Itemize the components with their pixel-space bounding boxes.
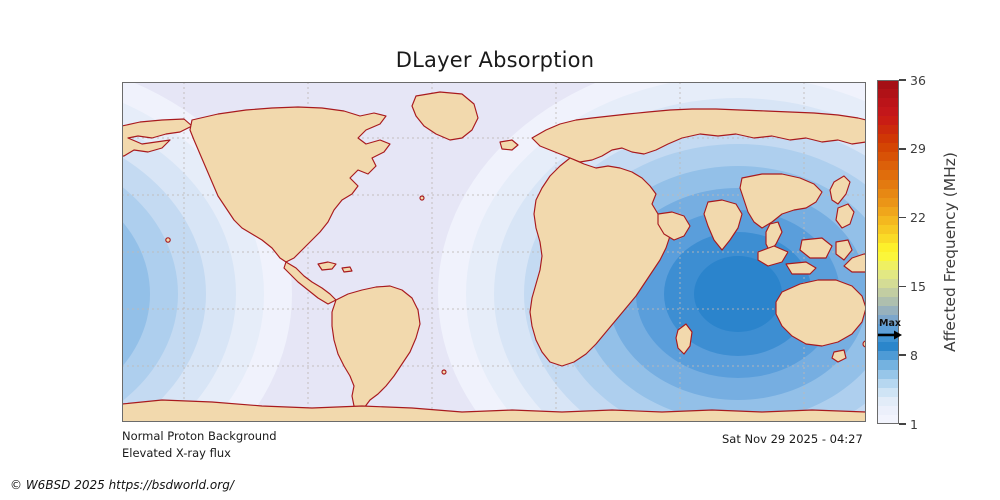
- colorbar-band: [877, 143, 899, 152]
- colorbar-band: [877, 216, 899, 225]
- colorbar-tick: 29: [899, 142, 926, 156]
- colorbar-band: [877, 116, 899, 125]
- colorbar-band: [877, 370, 899, 379]
- colorbar-tick-label: 8: [910, 348, 918, 363]
- colorbar-band: [877, 360, 899, 369]
- colorbar-band: [877, 152, 899, 161]
- colorbar-band: [877, 125, 899, 134]
- colorbar-band: [877, 170, 899, 179]
- colorbar-band: [877, 243, 899, 252]
- colorbar-band: [877, 252, 899, 261]
- colorbar-band: [877, 406, 899, 415]
- colorbar-band: [877, 107, 899, 116]
- page-title: DLayer Absorption: [0, 48, 990, 72]
- colorbar-band: [877, 261, 899, 270]
- colorbar-band: [877, 161, 899, 170]
- hispaniola: [342, 267, 352, 272]
- colorbar-tick-label: 22: [910, 210, 926, 225]
- colorbar-tick-label: 29: [910, 141, 926, 156]
- colorbar-tick-dash: [899, 286, 906, 288]
- colorbar-max-label: Max: [879, 319, 901, 329]
- colorbar-band: [877, 270, 899, 279]
- colorbar: [877, 80, 899, 424]
- island-hawaii: [166, 238, 170, 242]
- colorbar-tick: 8: [899, 348, 918, 362]
- colorbar-tick: 1: [899, 417, 918, 431]
- colorbar-tick-dash: [899, 354, 906, 356]
- colorbar-band: [877, 234, 899, 243]
- colorbar-tick-label: 36: [910, 73, 926, 88]
- colorbar-band: [877, 80, 899, 89]
- colorbar-band: [877, 351, 899, 360]
- colorbar-tick-dash: [899, 148, 906, 150]
- colorbar-tick-label: 15: [910, 279, 926, 294]
- colorbar-band: [877, 134, 899, 143]
- colorbar-band: [877, 397, 899, 406]
- colorbar-tick-dash: [899, 79, 906, 81]
- colorbar-band: [877, 297, 899, 306]
- colorbar-band: [877, 306, 899, 315]
- colorbar-tick: 15: [899, 279, 926, 293]
- colorbar-band: [877, 198, 899, 207]
- annotation-proton-background: Normal Proton Background: [122, 429, 277, 443]
- annotation-xray-flux: Elevated X-ray flux: [122, 446, 231, 460]
- colorbar-band: [877, 225, 899, 234]
- colorbar-tick: 22: [899, 211, 926, 225]
- island-bermuda: [420, 196, 424, 200]
- colorbar-band: [877, 379, 899, 388]
- colorbar-band: [877, 415, 899, 424]
- colorbar-band: [877, 189, 899, 198]
- colorbar-band: [877, 207, 899, 216]
- timestamp: Sat Nov 29 2025 - 04:27: [722, 432, 863, 446]
- colorbar-tick-dash: [899, 217, 906, 219]
- colorbar-band: [877, 288, 899, 297]
- copyright-footer: © W6BSD 2025 https://bsdworld.org/: [10, 478, 234, 492]
- map-canvas: [122, 82, 866, 422]
- colorbar-tick-dash: [899, 423, 906, 425]
- colorbar-band: [877, 89, 899, 98]
- colorbar-axis-label: Affected Frequency (MHz): [935, 80, 965, 424]
- colorbar-band: [877, 279, 899, 288]
- colorbar-band: [877, 180, 899, 189]
- colorbar-tick: 36: [899, 73, 926, 87]
- colorbar-band: [877, 388, 899, 397]
- island-ascension: [442, 370, 446, 374]
- colorbar-band: [877, 98, 899, 107]
- world-map: [122, 82, 866, 422]
- colorbar-tick-label: 1: [910, 417, 918, 432]
